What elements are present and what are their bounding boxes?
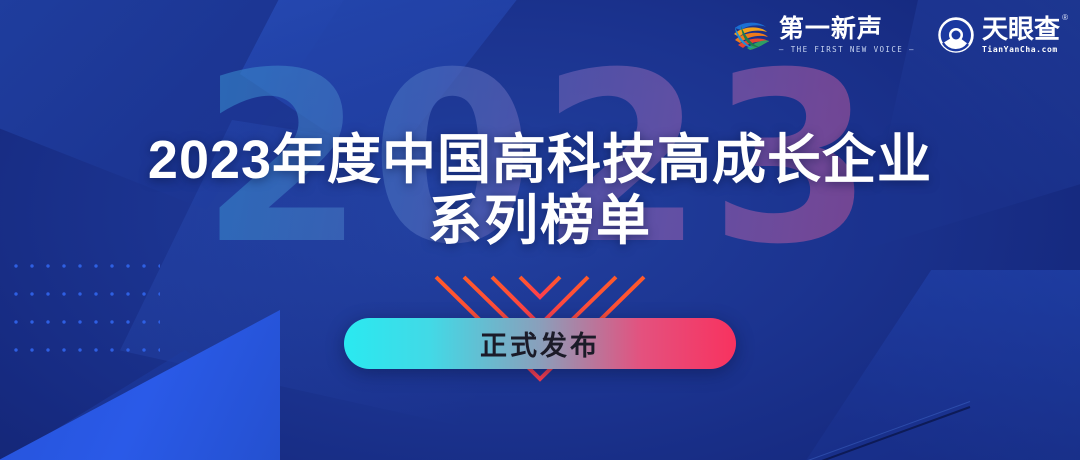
- logo-diyixinsheng: 第一新声 — THE FIRST NEW VOICE —: [730, 16, 915, 54]
- release-status-label: 正式发布: [480, 324, 600, 363]
- logo-tianyancha-name: 天眼查: [982, 14, 1060, 44]
- headline-line-1: 2023年度中国高科技高成长企业: [0, 133, 1080, 188]
- trademark-symbol: ®: [1062, 14, 1068, 22]
- logo-tianyancha-tagline: TianYanCha.com: [982, 46, 1060, 54]
- logo-tianyancha: 天眼查 ® TianYanCha.com: [937, 16, 1060, 54]
- logo-tianyancha-text: 天眼查 ® TianYanCha.com: [982, 16, 1060, 54]
- swirl-globe-icon: [730, 16, 772, 54]
- logo-diyixinsheng-text: 第一新声 — THE FIRST NEW VOICE —: [779, 17, 915, 54]
- aperture-eye-icon: [937, 16, 975, 54]
- headline-line-2: 系列榜单: [0, 194, 1080, 249]
- logo-group: 第一新声 — THE FIRST NEW VOICE — 天眼查 ® TianY…: [730, 16, 1060, 54]
- release-status-badge: 正式发布: [344, 318, 736, 369]
- page-title: 2023年度中国高科技高成长企业 系列榜单: [0, 133, 1080, 249]
- award-announcement-banner: 2023 2023年度中国高科技高成长企业 系列榜单 正式发布: [0, 0, 1080, 460]
- logo-diyixinsheng-name: 第一新声: [779, 17, 915, 42]
- logo-diyixinsheng-tagline: — THE FIRST NEW VOICE —: [779, 46, 915, 54]
